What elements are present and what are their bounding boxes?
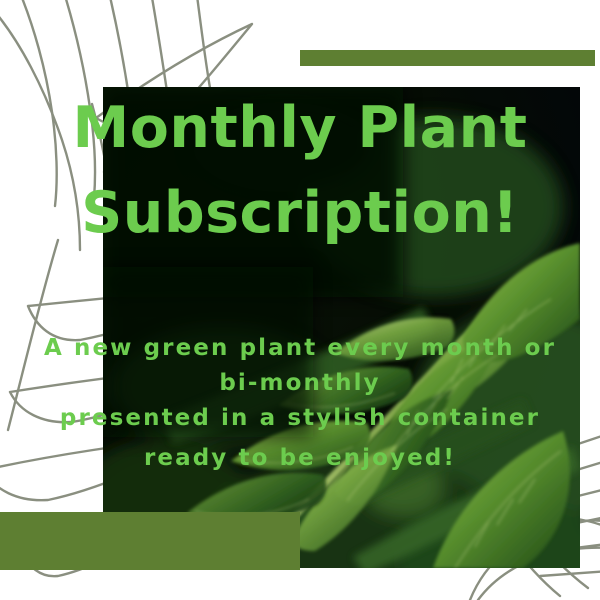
headline-line-1: Monthly Plant (0, 98, 600, 158)
headline-line-2: Subscription! (0, 183, 600, 243)
body-line-4: ready to be enjoyed! (0, 441, 600, 475)
poster-canvas: Monthly Plant Subscription! A new green … (0, 0, 600, 600)
body-line-3: presented in a stylish container (0, 401, 600, 435)
poster-text-layer: Monthly Plant Subscription! A new green … (0, 0, 600, 600)
body-line-2: bi-monthly (0, 366, 600, 400)
body-line-1: A new green plant every month or (0, 331, 600, 365)
